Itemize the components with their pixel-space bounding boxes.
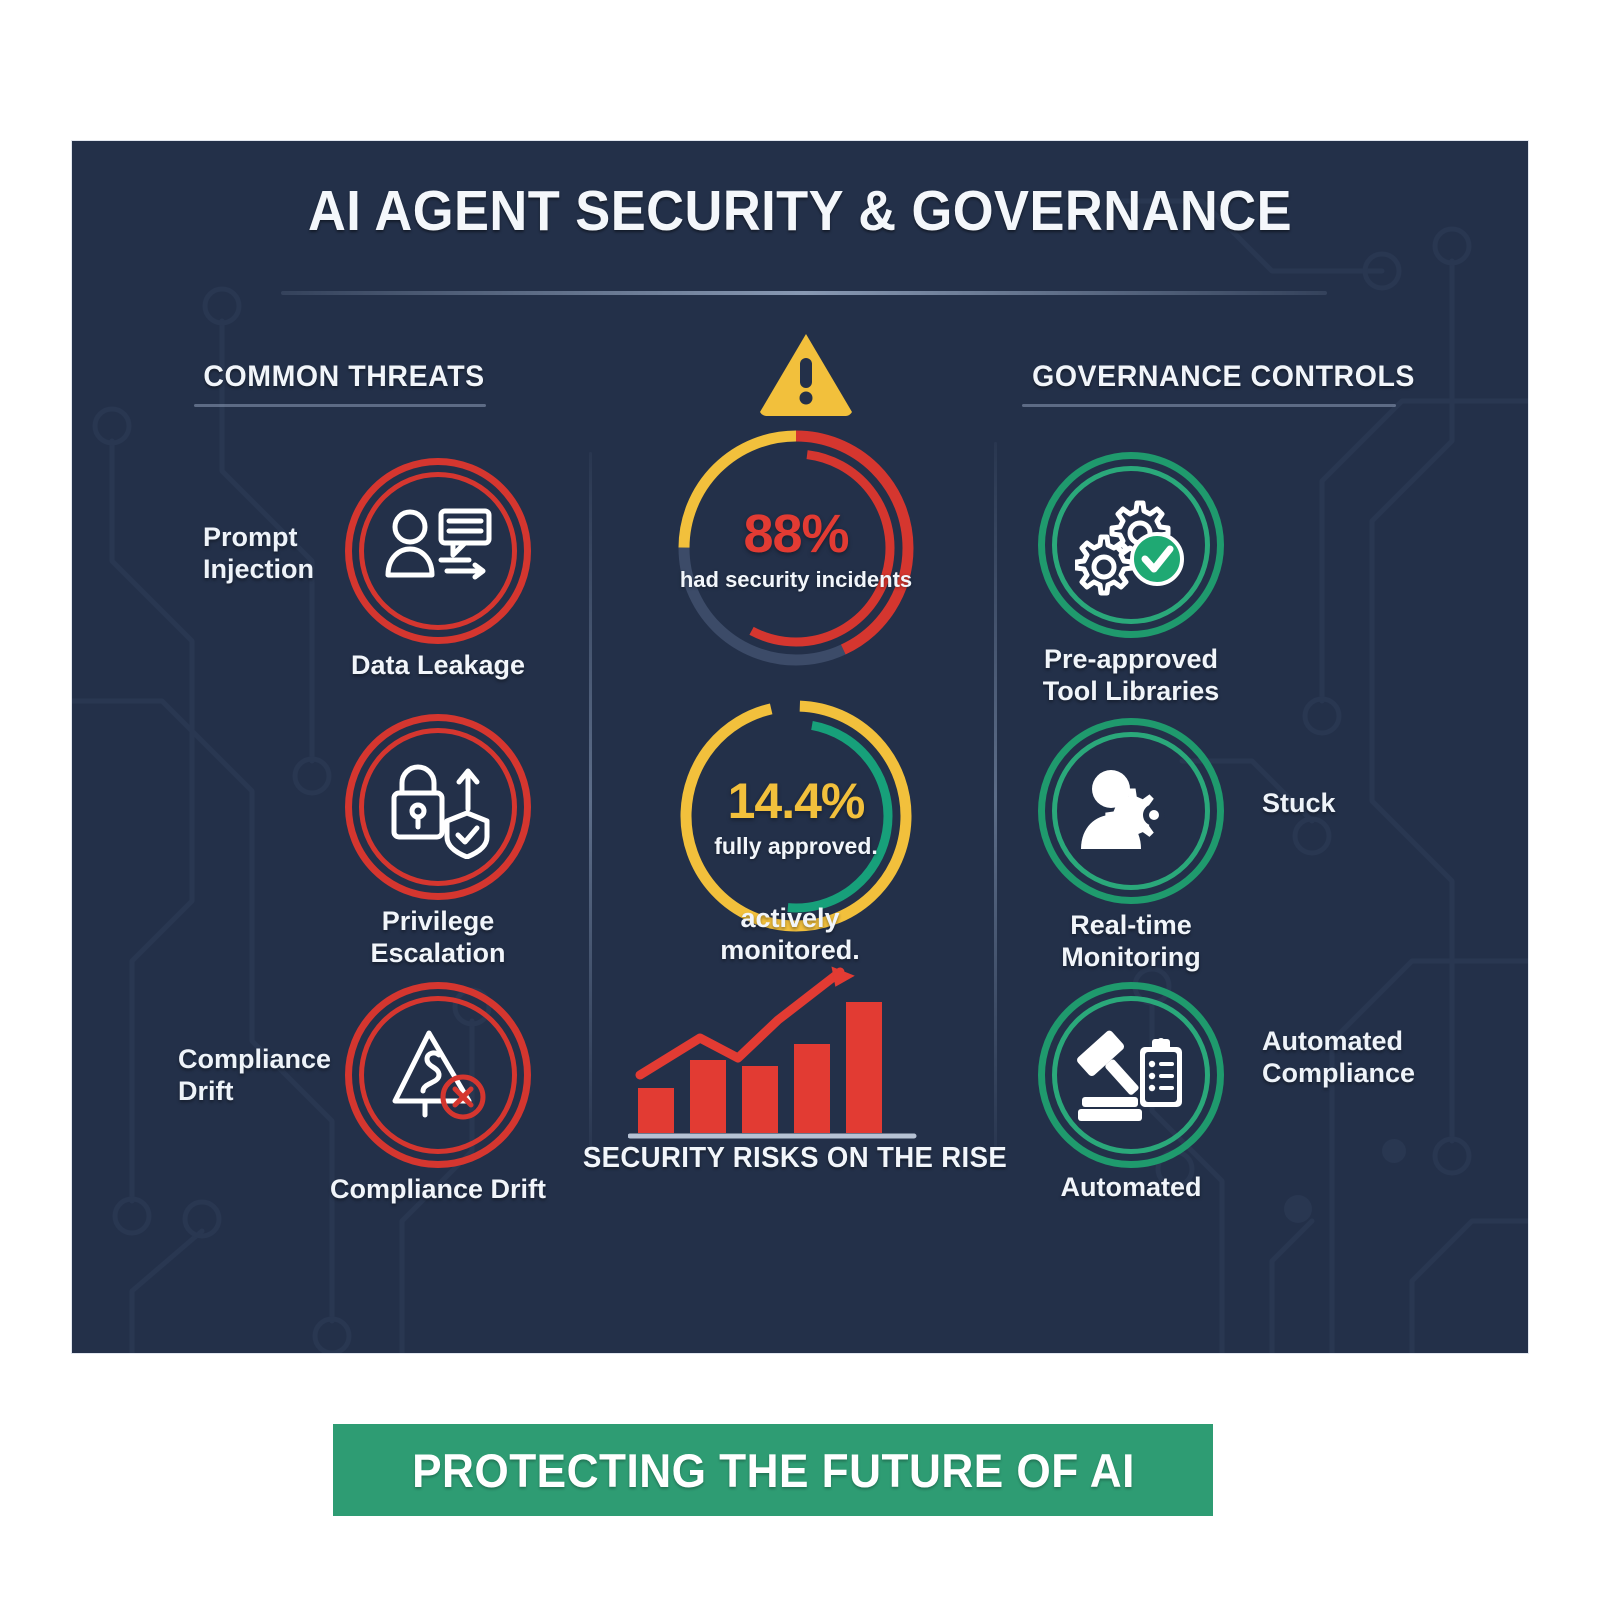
lock-arrow-shield-icon	[372, 741, 504, 873]
control-label-real-time-monitoring: Real-time Monitoring	[1000, 910, 1262, 974]
control-icon-real-time-monitoring	[1038, 718, 1224, 904]
gears-check-icon	[1065, 479, 1197, 611]
stat-donut-88: 88% had security incidents	[666, 418, 926, 678]
footer-banner-text: PROTECTING THE FUTURE OF AI	[412, 1443, 1135, 1498]
gavel-clipboard-icon	[1065, 1009, 1197, 1141]
title-divider	[281, 291, 1327, 295]
threat-label-compliance-drift: Compliance Drift	[300, 1174, 576, 1206]
threats-heading: COMMON THREATS	[203, 360, 484, 394]
controls-heading: GOVERNANCE CONTROLS	[1032, 360, 1415, 394]
control-label-pre-approved-tool-libraries: Pre-approved Tool Libraries	[1000, 644, 1262, 708]
left-column-divider	[589, 452, 592, 1152]
stat-value-88: 88%	[743, 503, 848, 565]
control-icon-pre-approved-tool-libraries	[1038, 452, 1224, 638]
stat-donut-88-center: 88% had security incidents	[666, 418, 926, 678]
threat-label-data-leakage: Data Leakage	[320, 650, 556, 682]
stat-value-144: 14.4%	[728, 772, 865, 830]
footer-banner: PROTECTING THE FUTURE OF AI	[333, 1424, 1213, 1516]
threat-label-privilege-escalation: Privilege Escalation	[320, 906, 556, 970]
threat-icon-data-leakage	[345, 458, 531, 644]
infographic-page: AI AGENT SECURITY & GOVERNANCE COMMON TH…	[0, 0, 1600, 1600]
warning-triangle-icon	[756, 328, 856, 420]
security-risk-bar-chart	[628, 940, 958, 1140]
chart-caption: SECURITY RISKS ON THE RISE	[572, 1142, 1019, 1175]
control-label-automated: Automated	[1000, 1172, 1262, 1204]
control-side-label-automated-compliance: Automated Compliance	[1262, 1026, 1492, 1090]
controls-heading-underline	[1022, 404, 1396, 407]
chart-bars	[638, 1002, 882, 1133]
stat-caption-144: fully approved.	[714, 833, 878, 860]
page-title: AI AGENT SECURITY & GOVERNANCE	[64, 178, 1536, 244]
warning-triangle-x-icon	[372, 1009, 504, 1141]
control-side-label-stuck: Stuck	[1262, 788, 1462, 820]
threat-icon-compliance-drift	[345, 982, 531, 1168]
control-icon-automated-compliance	[1038, 982, 1224, 1168]
user-chat-icon	[372, 485, 504, 617]
threat-icon-privilege-escalation	[345, 714, 531, 900]
user-gear-icon	[1065, 745, 1197, 877]
stat-caption-88: had security incidents	[680, 567, 912, 593]
threats-heading-underline	[194, 404, 486, 407]
right-column-divider	[994, 442, 997, 1152]
